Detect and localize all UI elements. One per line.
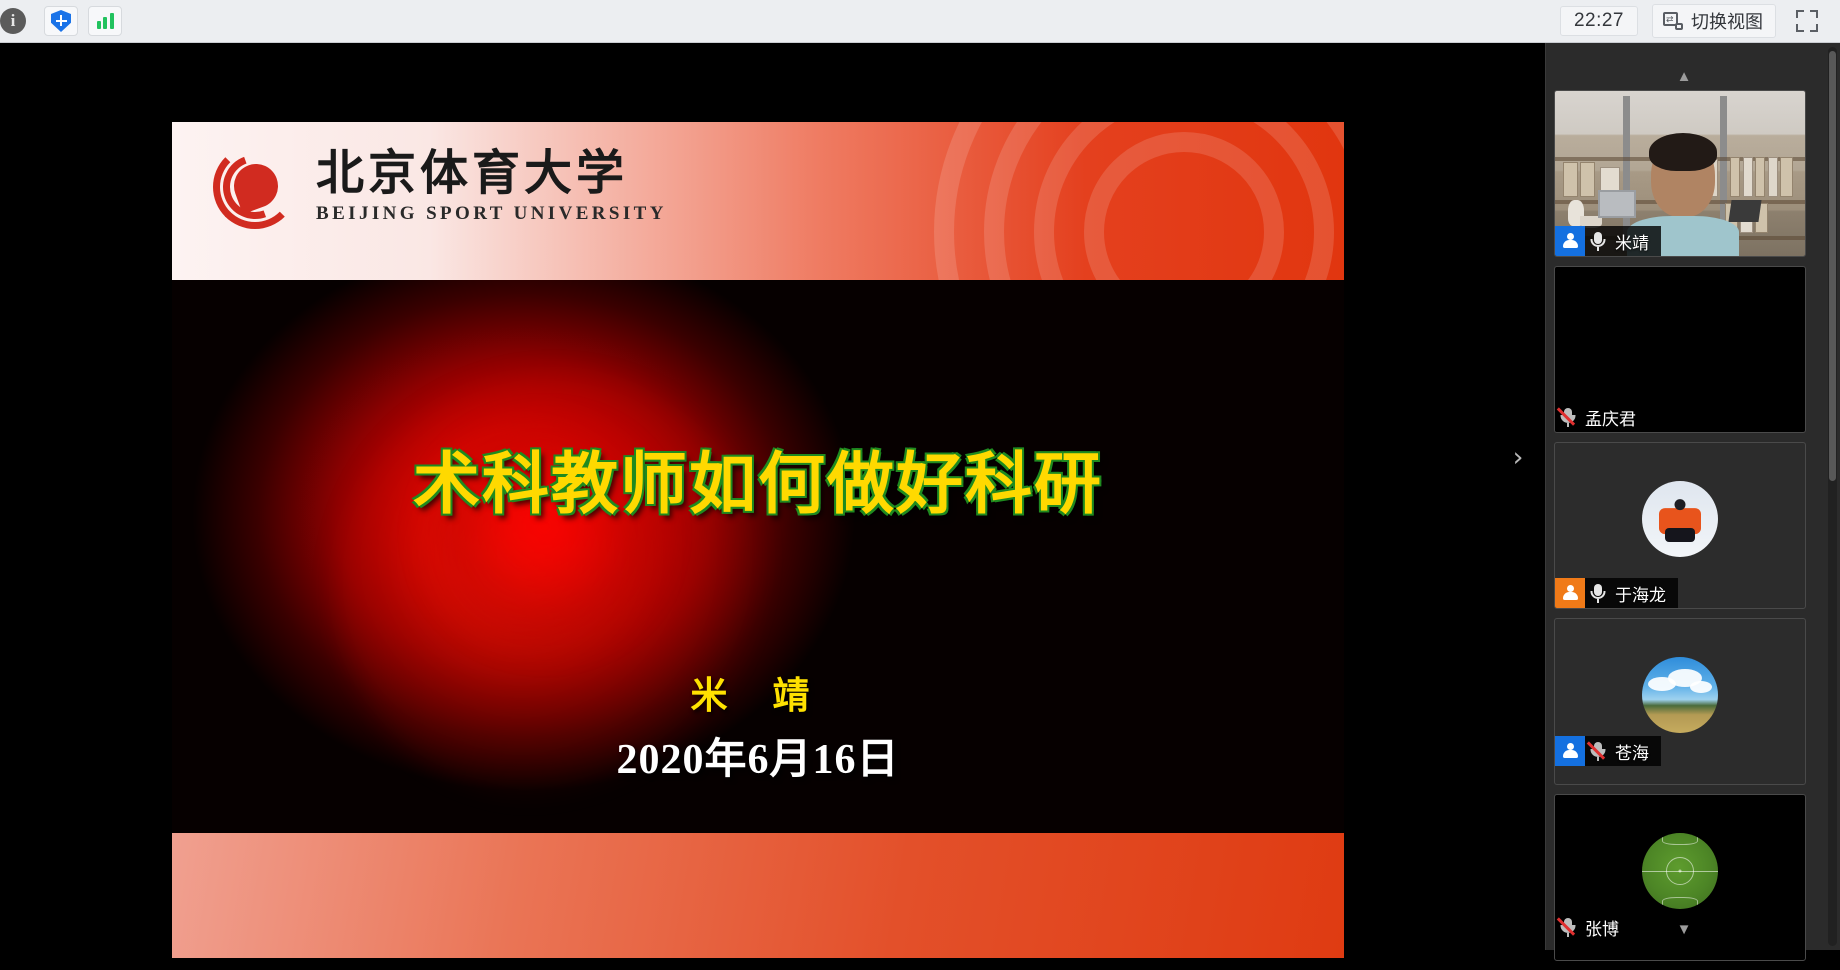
org-name-en: BEIJING SPORT UNIVERSITY [316,203,667,225]
participant-tile[interactable]: 孟庆君 [1554,266,1806,433]
shield-plus-icon [51,10,71,32]
participant-name: 苍海 [1611,739,1661,764]
mic-on-icon [1585,578,1611,608]
scroll-down-arrow-icon[interactable]: ▼ [1546,916,1822,942]
slide-header-banner: 北京体育大学 BEIJING SPORT UNIVERSITY [172,122,1344,280]
banner-arc-decoration [904,122,1344,280]
participant-sidebar: ▲ 米靖 [1545,43,1840,950]
info-icon: i [0,8,26,34]
slide-speaker-name: 米 靖 [172,665,1344,719]
person-icon [1562,233,1578,249]
toolbar-right-controls: 22:27 ⇄ 切换视图 [1560,4,1840,38]
clock-label: 22:27 [1560,6,1638,36]
university-branding: 北京体育大学 BEIJING SPORT UNIVERSITY [212,144,667,230]
participant-name: 米靖 [1611,229,1661,254]
slide-date: 2020年6月16日 [172,725,1344,786]
avatar [1642,481,1718,557]
switch-view-label: 切换视图 [1691,8,1763,34]
signal-bars-icon [97,13,114,29]
scroll-up-arrow-icon[interactable]: ▲ [1546,63,1822,89]
switch-view-icon: ⇄ [1663,12,1683,30]
collapse-panel-chevron-icon[interactable]: › [1507,441,1529,475]
slide-footer-banner [172,833,1344,958]
participant-tile[interactable]: 苍海 [1554,618,1806,785]
shield-plus-icon-button[interactable] [44,6,78,36]
avatar [1642,833,1718,909]
participant-name-bar: 于海龙 [1555,578,1678,608]
switch-view-button[interactable]: ⇄ 切换视图 [1652,4,1776,38]
org-name-cn: 北京体育大学 [316,149,667,199]
bsu-swirl-logo-icon [212,144,298,230]
presentation-slide: 北京体育大学 BEIJING SPORT UNIVERSITY 术科教师如何做好… [172,78,1344,958]
participant-name-bar: 米靖 [1555,226,1661,256]
slide-body: 术科教师如何做好科研 米 靖 2020年6月16日 [172,280,1344,868]
mic-on-icon [1585,226,1611,256]
participant-name-bar: 苍海 [1555,736,1661,766]
participant-name: 孟庆君 [1581,405,1648,430]
person-icon-badge [1555,226,1585,256]
person-icon-badge [1555,736,1585,766]
shared-screen-stage[interactable]: 北京体育大学 BEIJING SPORT UNIVERSITY 术科教师如何做好… [0,43,1545,950]
sidebar-scrollbar[interactable] [1828,47,1837,946]
top-toolbar: i 22:27 ⇄ 切换视图 [0,0,1840,43]
sidebar-scrollbar-thumb[interactable] [1829,51,1836,481]
person-icon-badge [1555,578,1585,608]
person-icon [1562,743,1578,759]
participant-name-bar: 孟庆君 [1555,402,1648,432]
fullscreen-icon [1796,10,1818,32]
signal-bars-icon-button[interactable] [88,6,122,36]
avatar [1642,657,1718,733]
toolbar-left-icons: i [0,6,122,36]
mic-muted-icon [1585,736,1611,766]
participant-name: 于海龙 [1611,581,1678,606]
participant-tile[interactable]: 米靖 [1554,90,1806,257]
person-icon [1562,585,1578,601]
participant-tile[interactable]: 于海龙 [1554,442,1806,609]
mic-muted-icon [1555,402,1581,432]
fullscreen-button[interactable] [1790,6,1824,36]
slide-title: 术科教师如何做好科研 [172,430,1344,527]
info-icon-button[interactable]: i [0,6,34,36]
participant-tile-list: 米靖 孟庆君 于海龙 [1554,90,1806,970]
